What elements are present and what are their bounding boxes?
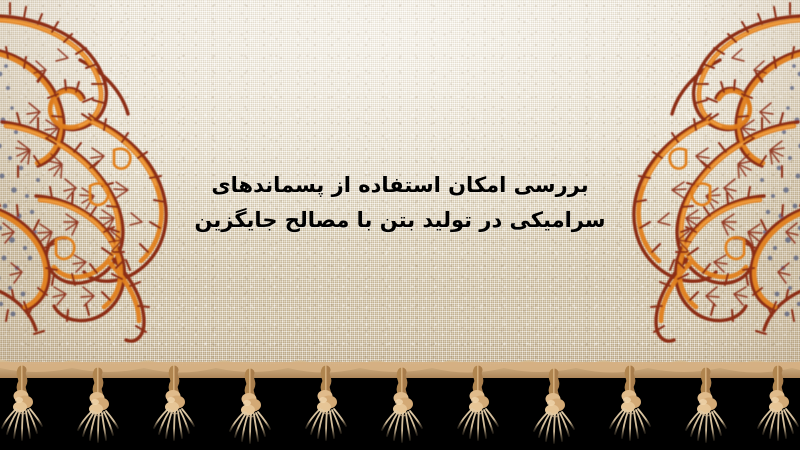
title-line-1: بررسی امکان استفاده از پسماندهای [190,168,610,203]
navy-speckle-accent [0,58,40,317]
slide-canvas: بررسی امکان استفاده از پسماندهای سرامیکی… [0,0,800,450]
tassel-row [2,370,798,443]
title-line-2: سرامیکی در تولید بتن با مصالح جایگزین [190,203,610,238]
paisley-ornament-right-icon [596,0,800,350]
slide-title: بررسی امکان استفاده از پسماندهای سرامیکی… [190,168,610,238]
textile-background-panel: بررسی امکان استفاده از پسماندهای سرامیکی… [0,0,800,378]
fabric-hem-edge [0,354,800,378]
paisley-ornament-left-icon [0,0,204,350]
feather-fill [2,49,142,306]
stitch-ticks [0,2,165,334]
